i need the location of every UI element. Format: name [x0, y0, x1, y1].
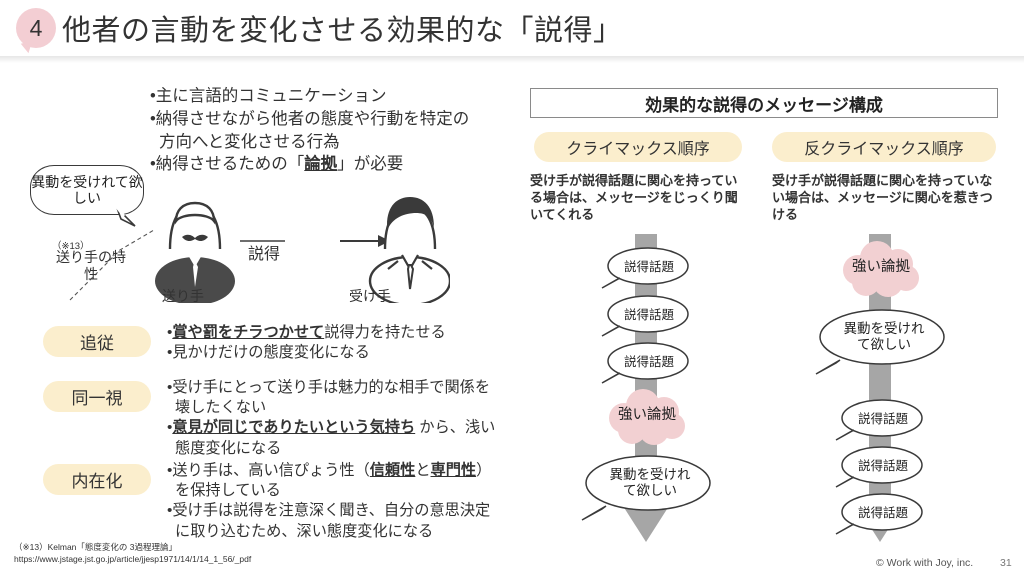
- list-item: •受け手にとって送り手は魅力的な相手で関係を壊したくない: [167, 378, 497, 418]
- persuasion-actors-diagram: [140, 183, 450, 303]
- sender-label: 送り手: [143, 286, 223, 306]
- category-emphasis: 賞や罰をチラつかせて: [172, 324, 324, 341]
- definition-bullet-1: 主に言語的コミュニケーション: [156, 87, 387, 105]
- slide-root: 4 他者の言動を変化させる効果的な「説得」 •主に言語的コミュニケーション •納…: [0, 0, 1024, 576]
- node-setoku-wadai-6: 説得話題: [850, 495, 916, 531]
- category-body: •賞や罰をチラつかせて説得力を持たせる •見かけだけの態度変化になる: [167, 323, 497, 363]
- category-naizaika: 内在化 •送り手は、高い信ぴょう性（信頼性と専門性）を保持している •受け手は説…: [43, 464, 151, 495]
- definition-bullet-3-emphasis: 論拠: [304, 155, 337, 173]
- page-number: 31: [1000, 557, 1012, 569]
- category-pill: 内在化: [43, 464, 151, 495]
- definition-bullet-list: •主に言語的コミュニケーション •納得させながら他者の態度や行動を特定の方向へと…: [150, 85, 470, 176]
- sender-trait-label: 送り手の特性: [52, 249, 130, 283]
- header-divider: [0, 56, 1024, 63]
- category-tsuijuu: 追従 •賞や罰をチラつかせて説得力を持たせる •見かけだけの態度変化になる: [43, 326, 151, 357]
- definition-bullet-3-prefix: 納得させるための「: [156, 155, 305, 173]
- category-text: と: [415, 462, 430, 479]
- page-title: 他者の言動を変化させる効果的な「説得」: [62, 7, 623, 49]
- node-label: 説得話題: [624, 308, 674, 322]
- node-label: 説得話題: [858, 412, 908, 426]
- section-number-badge: 4: [16, 8, 56, 48]
- category-pill: 追従: [43, 326, 151, 357]
- persuasion-arrow-label: 説得: [248, 240, 280, 264]
- node-strong-argument-climax: 強い論拠: [614, 393, 680, 437]
- list-item: •納得させるための「論拠」が必要: [150, 153, 470, 176]
- node-setoku-wadai-2: 説得話題: [616, 297, 682, 333]
- node-label: 説得話題: [624, 355, 674, 369]
- footnote-line-1: （※13）Kelman「態度変化の 3過程理論」: [14, 541, 251, 553]
- node-setoku-wadai-3: 説得話題: [616, 344, 682, 380]
- list-item: •受け手は説得を注意深く聞き、自分の意思決定に取り込むため、深い態度変化になる: [167, 501, 497, 541]
- category-body: •送り手は、高い信ぴょう性（信頼性と専門性）を保持している •受け手は説得を注意…: [167, 461, 497, 542]
- slide-header: 4 他者の言動を変化させる効果的な「説得」: [0, 0, 1024, 56]
- sender-speech-bubble-label: 異動を受けれて欲しい: [31, 174, 143, 206]
- receiver-label: 受け手: [330, 286, 410, 306]
- category-pill: 同一視: [43, 381, 151, 412]
- footnote-url[interactable]: https://www.jstage.jst.go.jp/article/jje…: [14, 553, 251, 565]
- node-setoku-wadai-5: 説得話題: [850, 448, 916, 484]
- copyright-label: © Work with Joy, inc.: [876, 557, 973, 569]
- node-goal-message-climax: 異動を受けれて欲しい: [604, 462, 696, 504]
- category-text: 見かけだけの態度変化になる: [172, 344, 369, 361]
- category-text: 説得力を持たせる: [324, 324, 446, 341]
- category-body: •受け手にとって送り手は魅力的な相手で関係を壊したくない •意見が同じでありたい…: [167, 378, 497, 459]
- category-emphasis: 専門性: [431, 462, 477, 479]
- category-emphasis: 意見が同じでありたいという気持ち: [172, 419, 415, 436]
- climax-order-description: 受け手が説得話題に関心を持っている場合は、メッセージをじっくり聞いてくれる: [530, 172, 746, 223]
- speech-bubble-tail-icon: [115, 206, 137, 228]
- list-item: •主に言語的コミュニケーション: [150, 85, 470, 108]
- node-strong-argument-anticlimax: 強い論拠: [848, 245, 914, 289]
- node-setoku-wadai-1: 説得話題: [616, 249, 682, 285]
- node-setoku-wadai-4: 説得話題: [850, 401, 916, 437]
- definition-bullet-3-suffix: 」が必要: [337, 155, 403, 173]
- list-item: •納得させながら他者の態度や行動を特定の方向へと変化させる行為: [150, 108, 470, 154]
- category-text: 受け手にとって送り手は魅力的な相手で関係を壊したくない: [172, 379, 490, 416]
- node-goal-message-anticlimax: 異動を受けれて欲しい: [838, 316, 930, 358]
- node-label: 異動を受けれて欲しい: [838, 321, 930, 352]
- section-number-label: 4: [30, 15, 43, 42]
- node-label: 異動を受けれて欲しい: [604, 467, 696, 498]
- anticlimax-order-pill: 反クライマックス順序: [772, 132, 996, 162]
- list-item: •意見が同じでありたいという気持ち から、浅い態度変化になる: [167, 418, 497, 458]
- message-structure-title: 効果的な説得のメッセージ構成: [530, 88, 998, 118]
- sender-speech-bubble: 異動を受けれて欲しい: [30, 165, 144, 215]
- node-label: 強い論拠: [852, 259, 910, 276]
- list-item: •賞や罰をチラつかせて説得力を持たせる: [167, 323, 497, 343]
- anticlimax-order-description: 受け手が説得話題に関心を持っていない場合は、メッセージに関心を惹きつける: [772, 172, 1000, 223]
- category-text: 送り手は、高い信ぴょう性（: [172, 462, 369, 479]
- climax-order-pill: クライマックス順序: [534, 132, 742, 162]
- node-label: 説得話題: [624, 260, 674, 274]
- category-douitsushi: 同一視 •受け手にとって送り手は魅力的な相手で関係を壊したくない •意見が同じで…: [43, 381, 151, 412]
- node-label: 説得話題: [858, 459, 908, 473]
- list-item: •見かけだけの態度変化になる: [167, 343, 497, 363]
- node-label: 説得話題: [858, 506, 908, 520]
- category-text: 受け手は説得を注意深く聞き、自分の意思決定に取り込むため、深い態度変化になる: [172, 502, 490, 539]
- source-footnote: （※13）Kelman「態度変化の 3過程理論」 https://www.jst…: [14, 541, 251, 566]
- definition-bullet-2: 納得させながら他者の態度や行動を特定の方向へと変化させる行為: [156, 110, 470, 151]
- node-label: 強い論拠: [618, 407, 676, 424]
- category-emphasis: 信頼性: [370, 462, 416, 479]
- list-item: •送り手は、高い信ぴょう性（信頼性と専門性）を保持している: [167, 461, 497, 501]
